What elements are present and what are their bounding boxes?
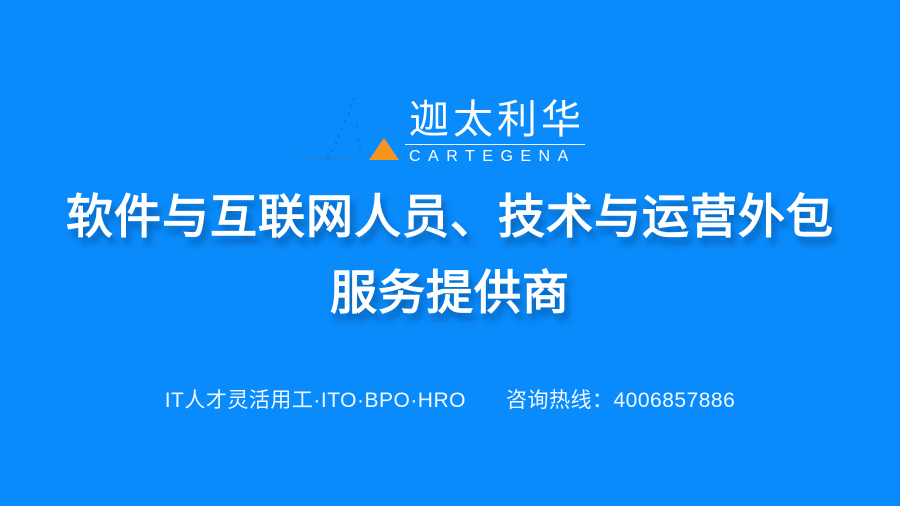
- logo-latin-name: CARTEGENA: [405, 148, 585, 166]
- tagline: IT人才灵活用工·ITO·BPO·HRO 咨询热线：4006857886: [0, 388, 900, 414]
- headline-line-2: 服务提供商: [0, 256, 900, 332]
- logo-chinese-name: 迦太利华: [405, 98, 585, 142]
- services-list: IT人才灵活用工·ITO·BPO·HRO: [165, 388, 466, 414]
- headline-line-1: 软件与互联网人员、技术与运营外包: [0, 180, 900, 256]
- triangle-icon: [369, 138, 399, 160]
- hotline: 咨询热线：4006857886: [506, 388, 735, 414]
- hotline-label: 咨询热线：: [506, 389, 614, 412]
- logo: 迦太利华 CARTEGENA: [0, 78, 900, 168]
- logo-wordmark: 迦太利华 CARTEGENA: [405, 98, 585, 166]
- page-title: 软件与互联网人员、技术与运营外包 服务提供商: [0, 180, 900, 332]
- hotline-number: 4006857886: [613, 389, 735, 412]
- logo-inner: 迦太利华 CARTEGENA: [315, 94, 585, 168]
- ghost-triangle-icon: [315, 94, 367, 168]
- promo-banner: 迦太利华 CARTEGENA 软件与互联网人员、技术与运营外包 服务提供商 IT…: [0, 0, 900, 506]
- logo-divider: [405, 144, 585, 145]
